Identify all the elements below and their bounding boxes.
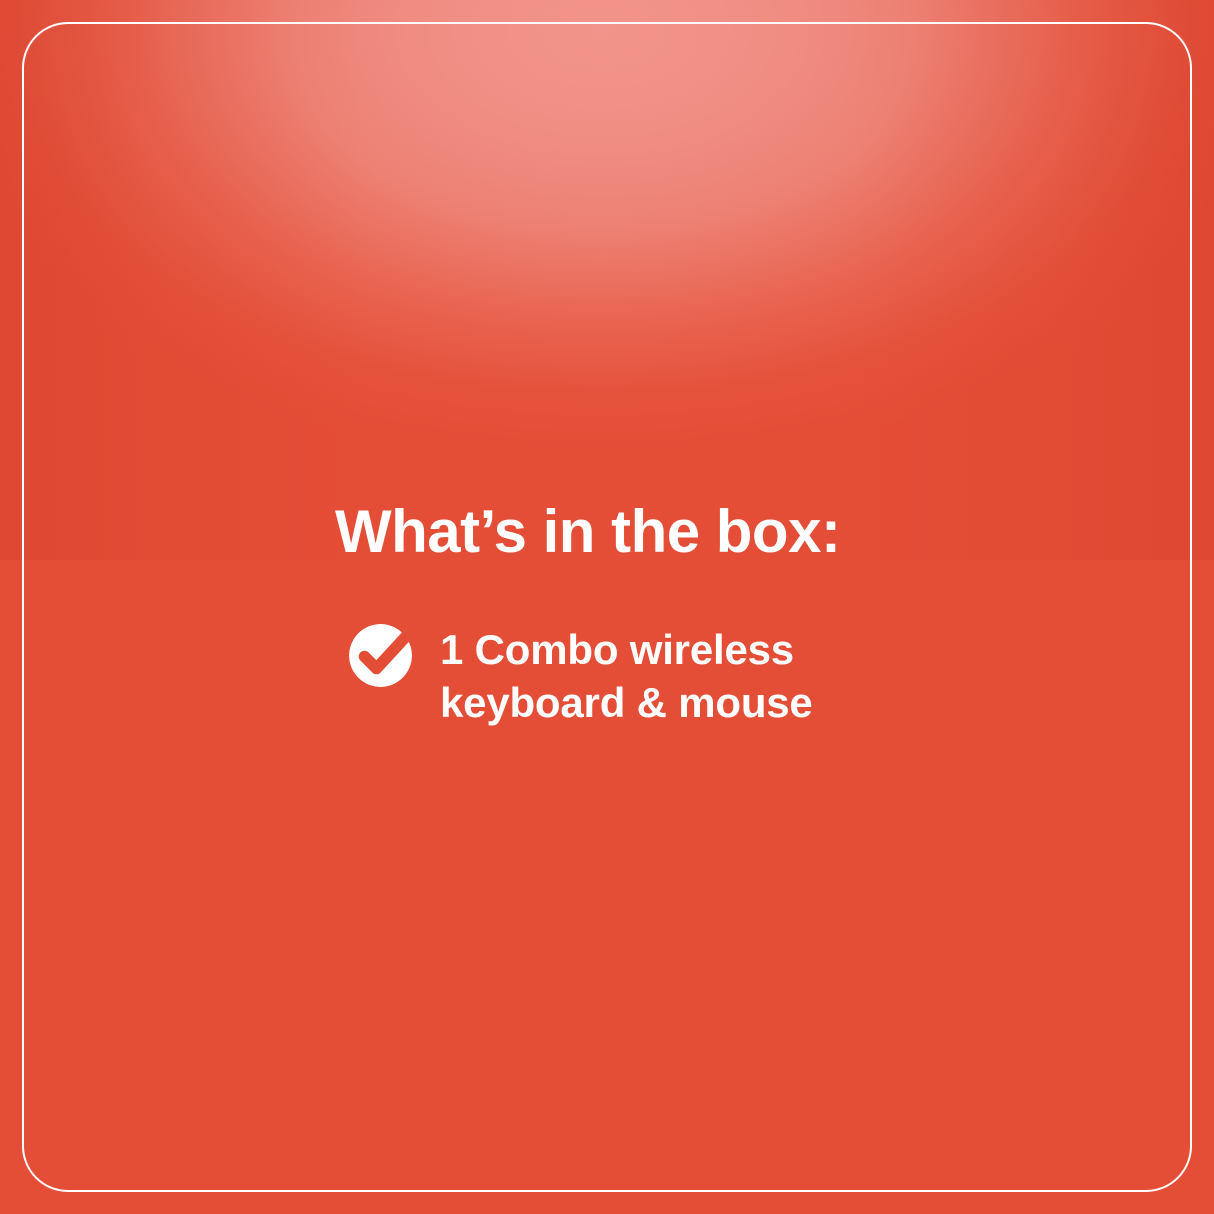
background-edge-shading <box>0 0 1214 560</box>
list-item-label: 1 Combo wireless keyboard & mouse <box>440 623 880 729</box>
check-circle-icon <box>347 620 421 690</box>
panel-content: What’s in the box: <box>335 498 955 729</box>
page-title: What’s in the box: <box>335 498 955 566</box>
product-info-panel: What’s in the box: <box>0 0 1214 1214</box>
box-contents-list: 1 Combo wireless keyboard & mouse <box>335 618 955 729</box>
list-item: 1 Combo wireless keyboard & mouse <box>348 618 955 729</box>
